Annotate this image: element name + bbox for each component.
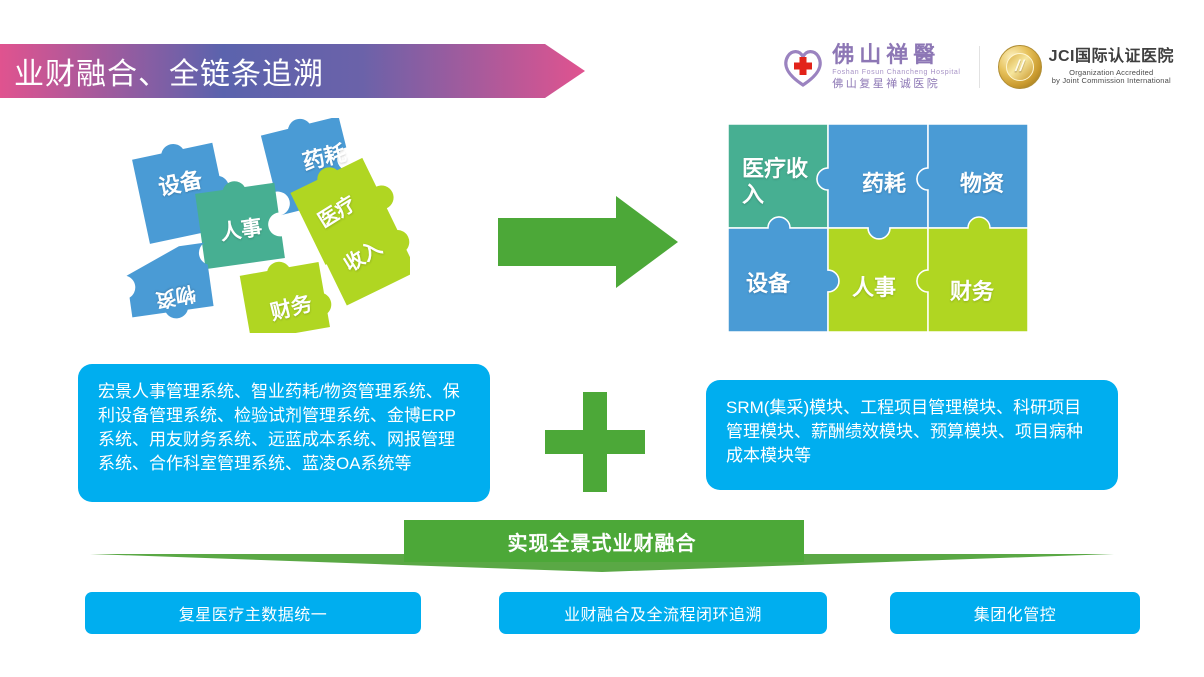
right-arrow-icon bbox=[498, 196, 678, 288]
plus-icon bbox=[545, 392, 645, 492]
jci-title-cn: JCI国际认证医院 bbox=[1049, 48, 1174, 66]
heart-red-cross-icon bbox=[780, 44, 826, 90]
puzzle-piece-wuzi bbox=[123, 243, 214, 325]
legacy-systems-box: 宏景人事管理系统、智业药耗/物资管理系统、保利设备管理系统、检验试剂管理系统、金… bbox=[78, 364, 490, 502]
assembled-puzzle-graphic: 医疗收入 药耗 物资 设备 人事 财务 bbox=[728, 124, 1028, 332]
jci-gold-medal-icon: // bbox=[998, 45, 1042, 89]
hospital-name-cn-full: 佛山复星禅诚医院 bbox=[832, 79, 960, 90]
new-modules-box: SRM(集采)模块、工程项目管理模块、科研项目管理模块、薪酬绩效模块、预算模块、… bbox=[706, 380, 1118, 490]
hospital-name-en: Foshan Fosun Chancheng Hospital bbox=[832, 69, 960, 76]
assembled-piece-4 bbox=[728, 217, 839, 332]
hospital-logo-text: 佛山禅醫 Foshan Fosun Chancheng Hospital 佛山复… bbox=[832, 44, 960, 90]
jci-logo: // JCI国际认证医院 Organization Accredited by … bbox=[998, 45, 1174, 89]
logo-divider bbox=[979, 46, 980, 88]
outcome-pill-1[interactable]: 复星医疗主数据统一 bbox=[85, 592, 421, 634]
logo-group: 佛山禅醫 Foshan Fosun Chancheng Hospital 佛山复… bbox=[780, 44, 1174, 90]
assembled-piece-2 bbox=[817, 124, 928, 239]
assembled-piece-6 bbox=[917, 217, 1028, 332]
jci-logo-text: JCI国际认证医院 Organization Accredited by Joi… bbox=[1049, 48, 1174, 86]
scattered-puzzle-graphic: 设备 药耗 人事 医疗 收入 财务 物资 bbox=[110, 118, 410, 333]
hospital-logo: 佛山禅醫 Foshan Fosun Chancheng Hospital 佛山复… bbox=[780, 44, 960, 90]
outcome-pill-3[interactable]: 集团化管控 bbox=[890, 592, 1140, 634]
page-title: 业财融合、全链条追溯 bbox=[14, 44, 324, 98]
outcome-pill-2[interactable]: 业财融合及全流程闭环追溯 bbox=[499, 592, 827, 634]
jci-line2-en: by Joint Commission International bbox=[1049, 77, 1174, 86]
assembled-piece-1 bbox=[728, 124, 828, 228]
hospital-name-cn: 佛山禅醫 bbox=[832, 44, 960, 66]
assembled-piece-3 bbox=[917, 124, 1028, 228]
assembled-piece-5 bbox=[828, 228, 928, 332]
puzzle-piece-caiwu bbox=[238, 254, 335, 333]
result-band-label: 实现全景式业财融合 bbox=[0, 520, 1204, 562]
slide-canvas: 业财融合、全链条追溯 佛山禅醫 Foshan Fosun Chancheng H… bbox=[0, 0, 1204, 677]
